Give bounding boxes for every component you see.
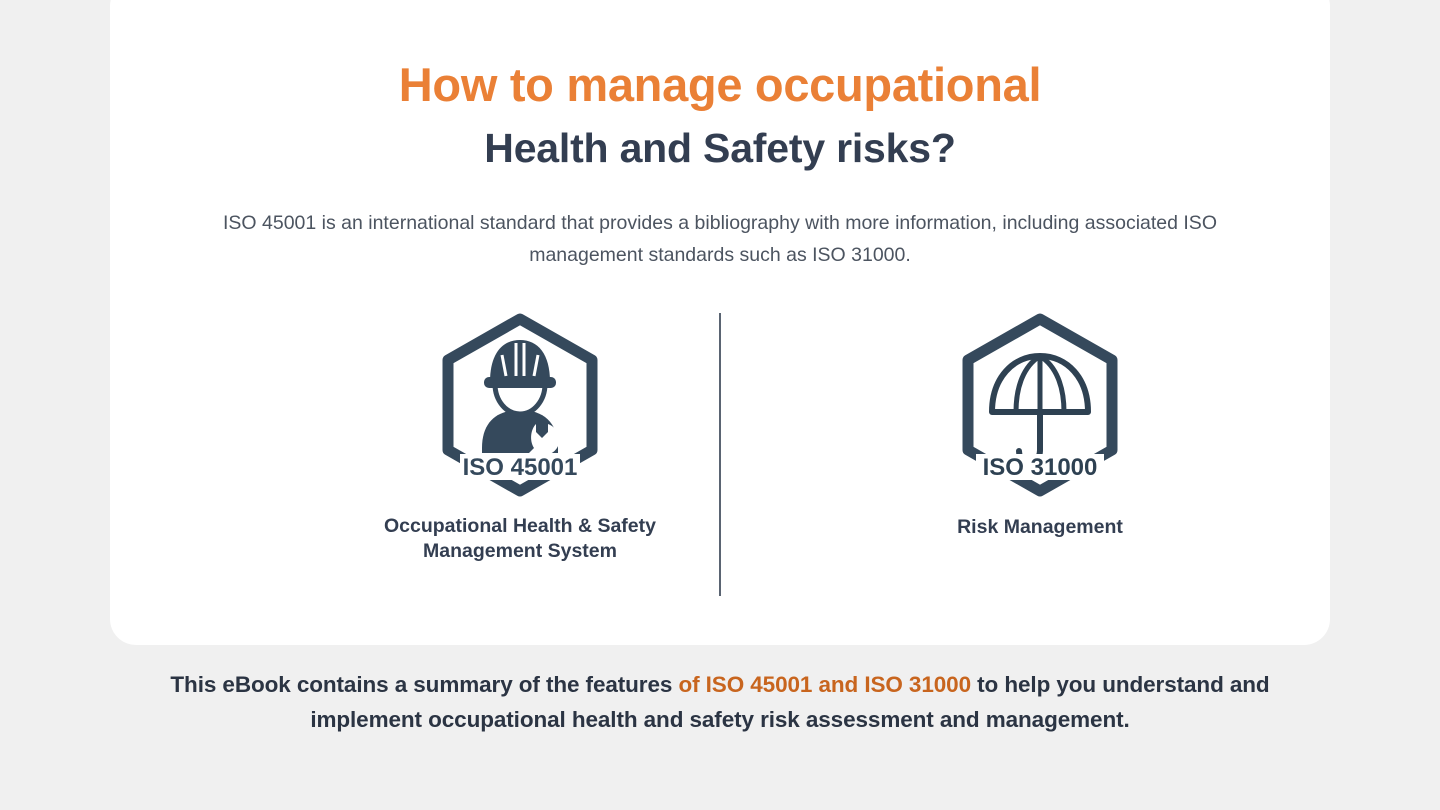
standard-item-iso-31000: ISO 31000 Risk Management — [760, 310, 1320, 540]
iso-45001-caption-line-1: Occupational Health & Safety — [384, 515, 656, 537]
iso-45001-caption: Occupational Health & Safety Management … — [350, 514, 690, 565]
column-divider — [719, 313, 721, 596]
page-title: How to manage occupational Health and Sa… — [110, 58, 1330, 172]
infographic-page: How to manage occupational Health and Sa… — [0, 0, 1440, 810]
iso-31000-badge: ISO 31000 — [760, 310, 1320, 500]
iso-31000-caption-line-1: Risk Management — [957, 516, 1123, 538]
construction-worker-icon: ISO 45001 — [432, 310, 608, 500]
footer-summary: This eBook contains a summary of the fea… — [120, 668, 1320, 738]
iso-45001-caption-line-2: Management System — [423, 540, 617, 562]
standard-item-iso-45001: ISO 45001 Occupational Health & Safety M… — [350, 310, 690, 565]
page-title-line-2: Health and Safety risks? — [110, 125, 1330, 173]
footer-highlight: of ISO 45001 and ISO 31000 — [678, 672, 971, 697]
iso-31000-caption: Risk Management — [760, 515, 1320, 540]
page-subtitle: ISO 45001 is an international standard t… — [220, 208, 1220, 271]
iso-45001-badge: ISO 45001 — [350, 310, 690, 500]
footer-part-1: This eBook contains a summary of the fea… — [170, 672, 678, 697]
standards-section: ISO 45001 Occupational Health & Safety M… — [110, 310, 1330, 600]
iso-45001-badge-label: ISO 45001 — [463, 454, 578, 481]
umbrella-icon: ISO 31000 — [952, 310, 1128, 500]
iso-31000-badge-label: ISO 31000 — [983, 454, 1098, 481]
page-title-line-1: How to manage occupational — [110, 58, 1330, 113]
content-card: How to manage occupational Health and Sa… — [110, 0, 1330, 645]
